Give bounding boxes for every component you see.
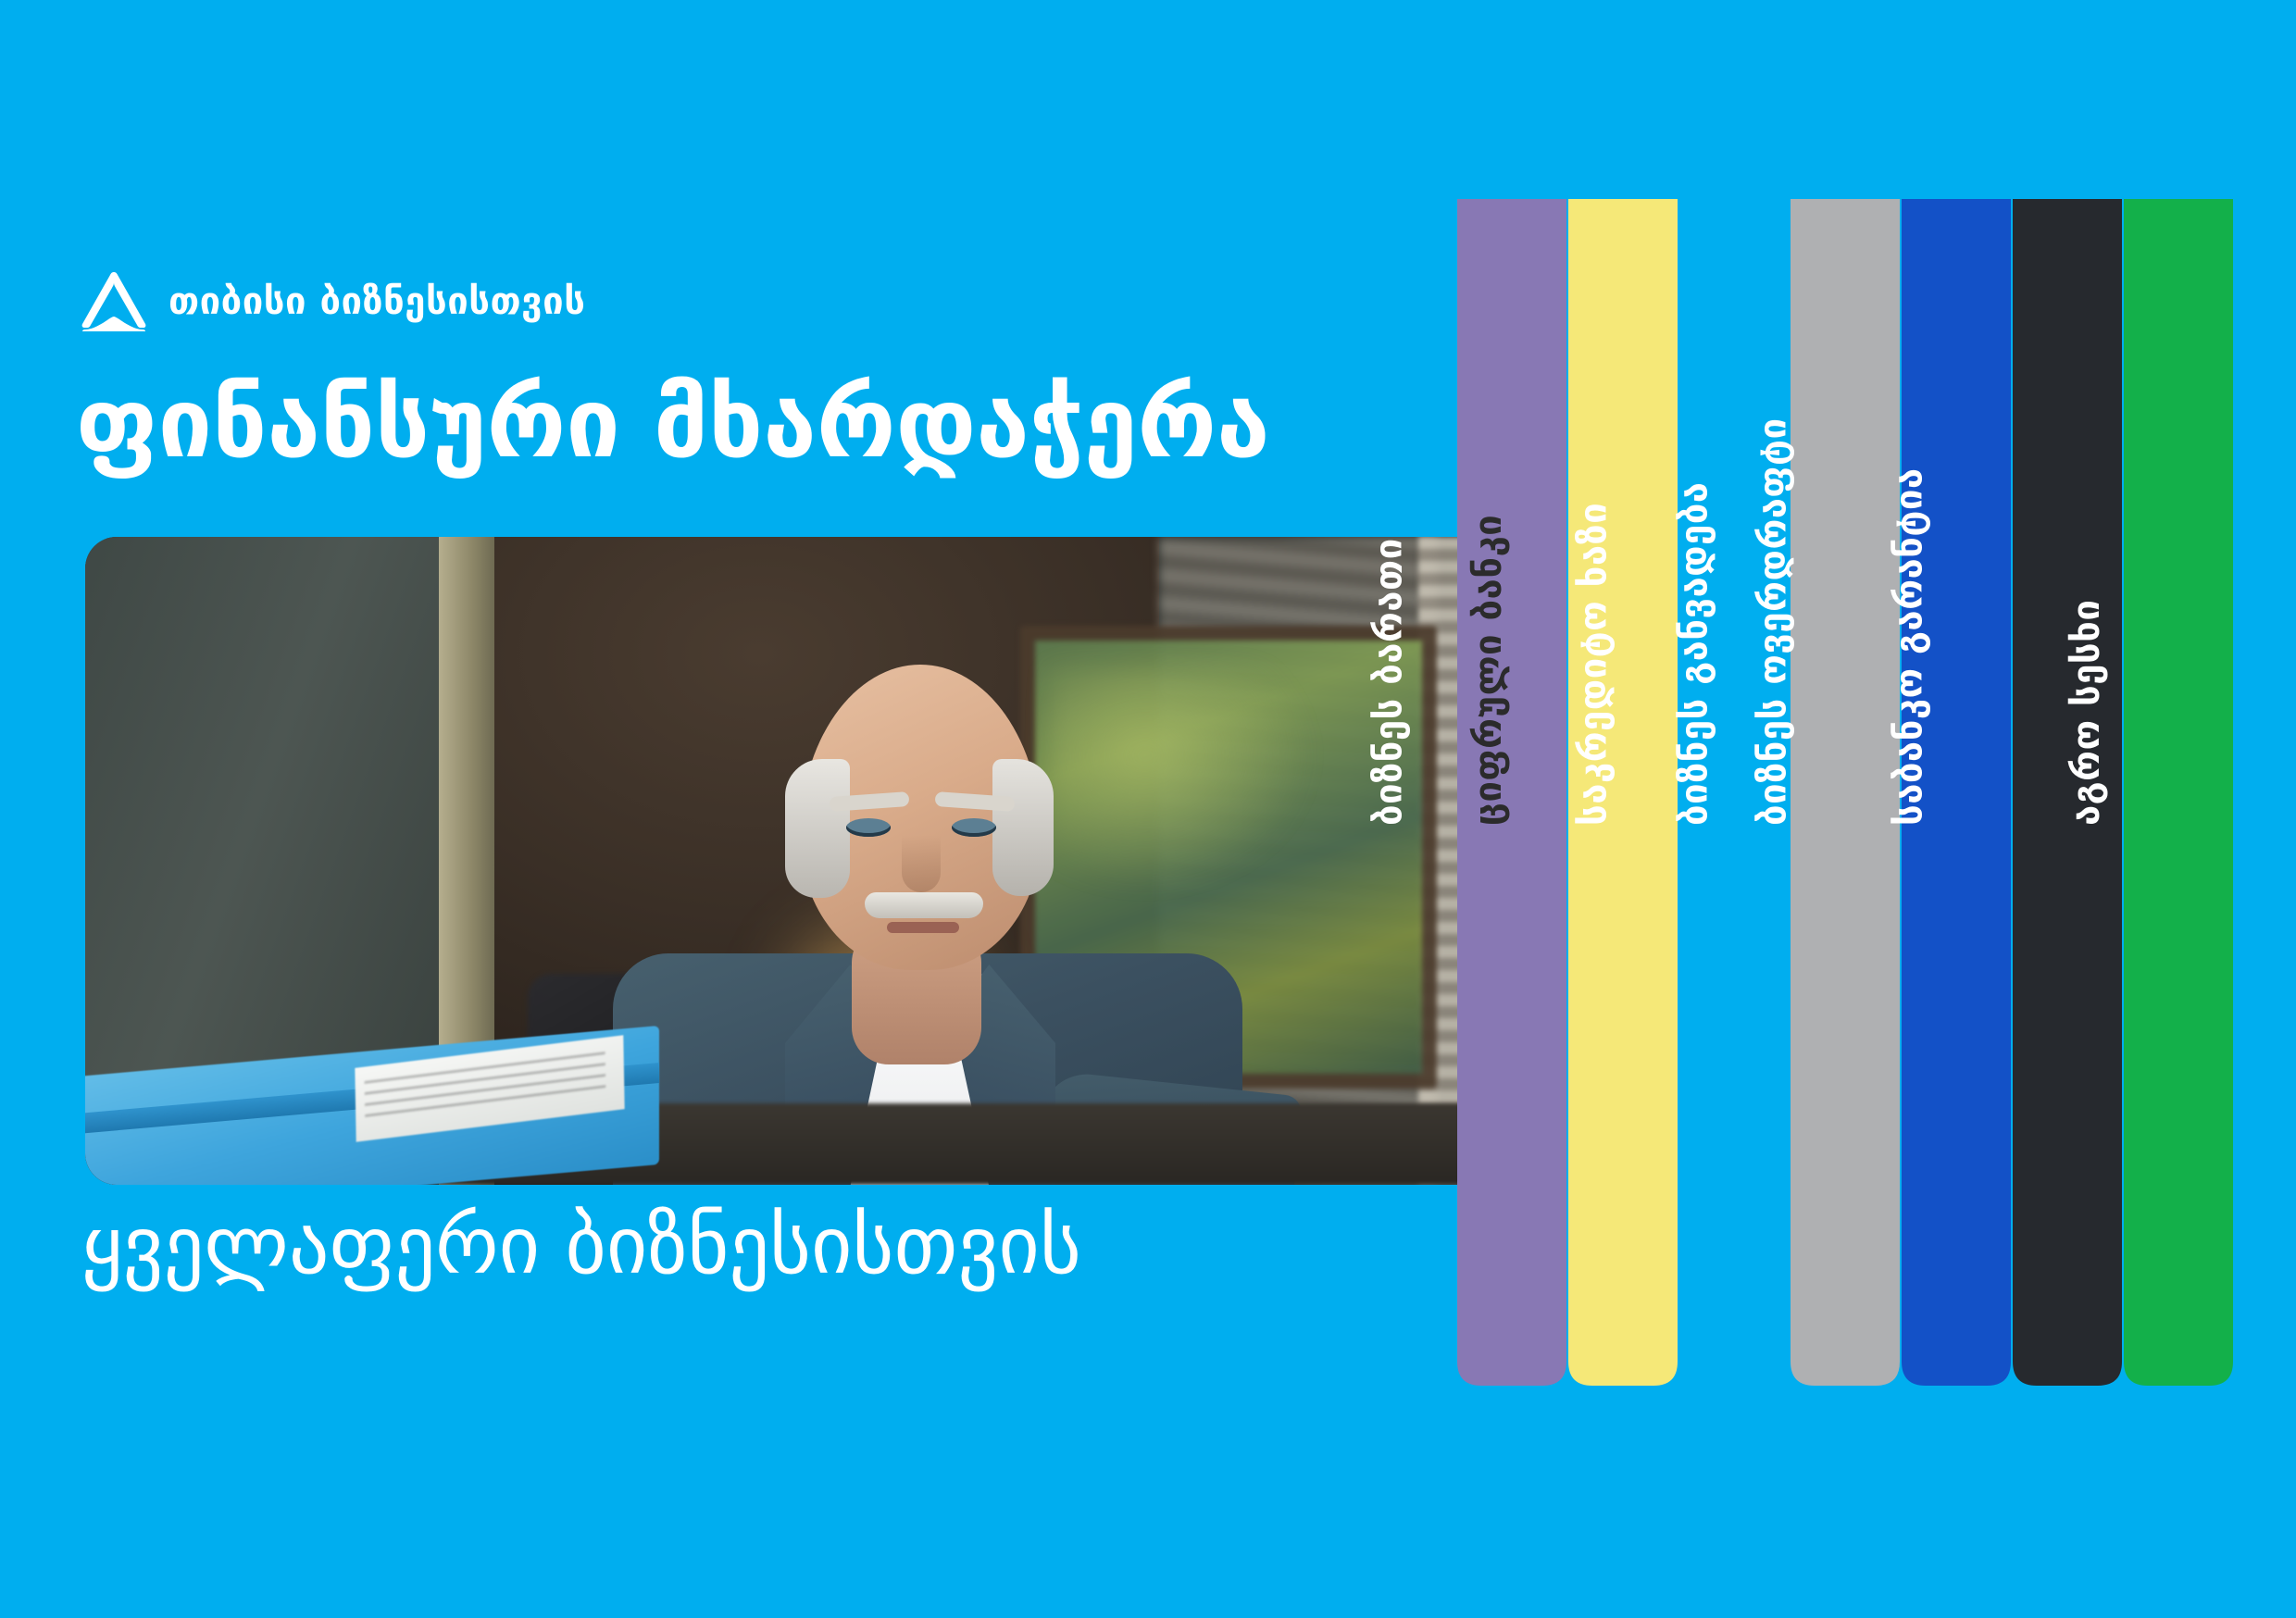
ribbon-shapes xyxy=(0,0,2296,1618)
ribbon-shape-1[interactable] xyxy=(1457,199,1566,1386)
ribbon-shape-7[interactable] xyxy=(2124,199,2233,1386)
promo-banner: თიბისი ბიზნესისთვის ფინანსური მხარდაჭერა xyxy=(0,0,2296,1618)
ribbon-shape-6[interactable] xyxy=(2013,199,2122,1386)
ribbon-shape-5[interactable] xyxy=(1902,199,2011,1386)
ribbon-shape-4[interactable] xyxy=(1791,199,1900,1386)
ribbon-shape-2[interactable] xyxy=(1568,199,1678,1386)
product-ribbons: ბიზნეს ბარათიციფრული ბანკისაკრედიტო ხაზი… xyxy=(0,0,2296,1618)
ribbon-shape-3[interactable] xyxy=(1679,199,1789,1386)
